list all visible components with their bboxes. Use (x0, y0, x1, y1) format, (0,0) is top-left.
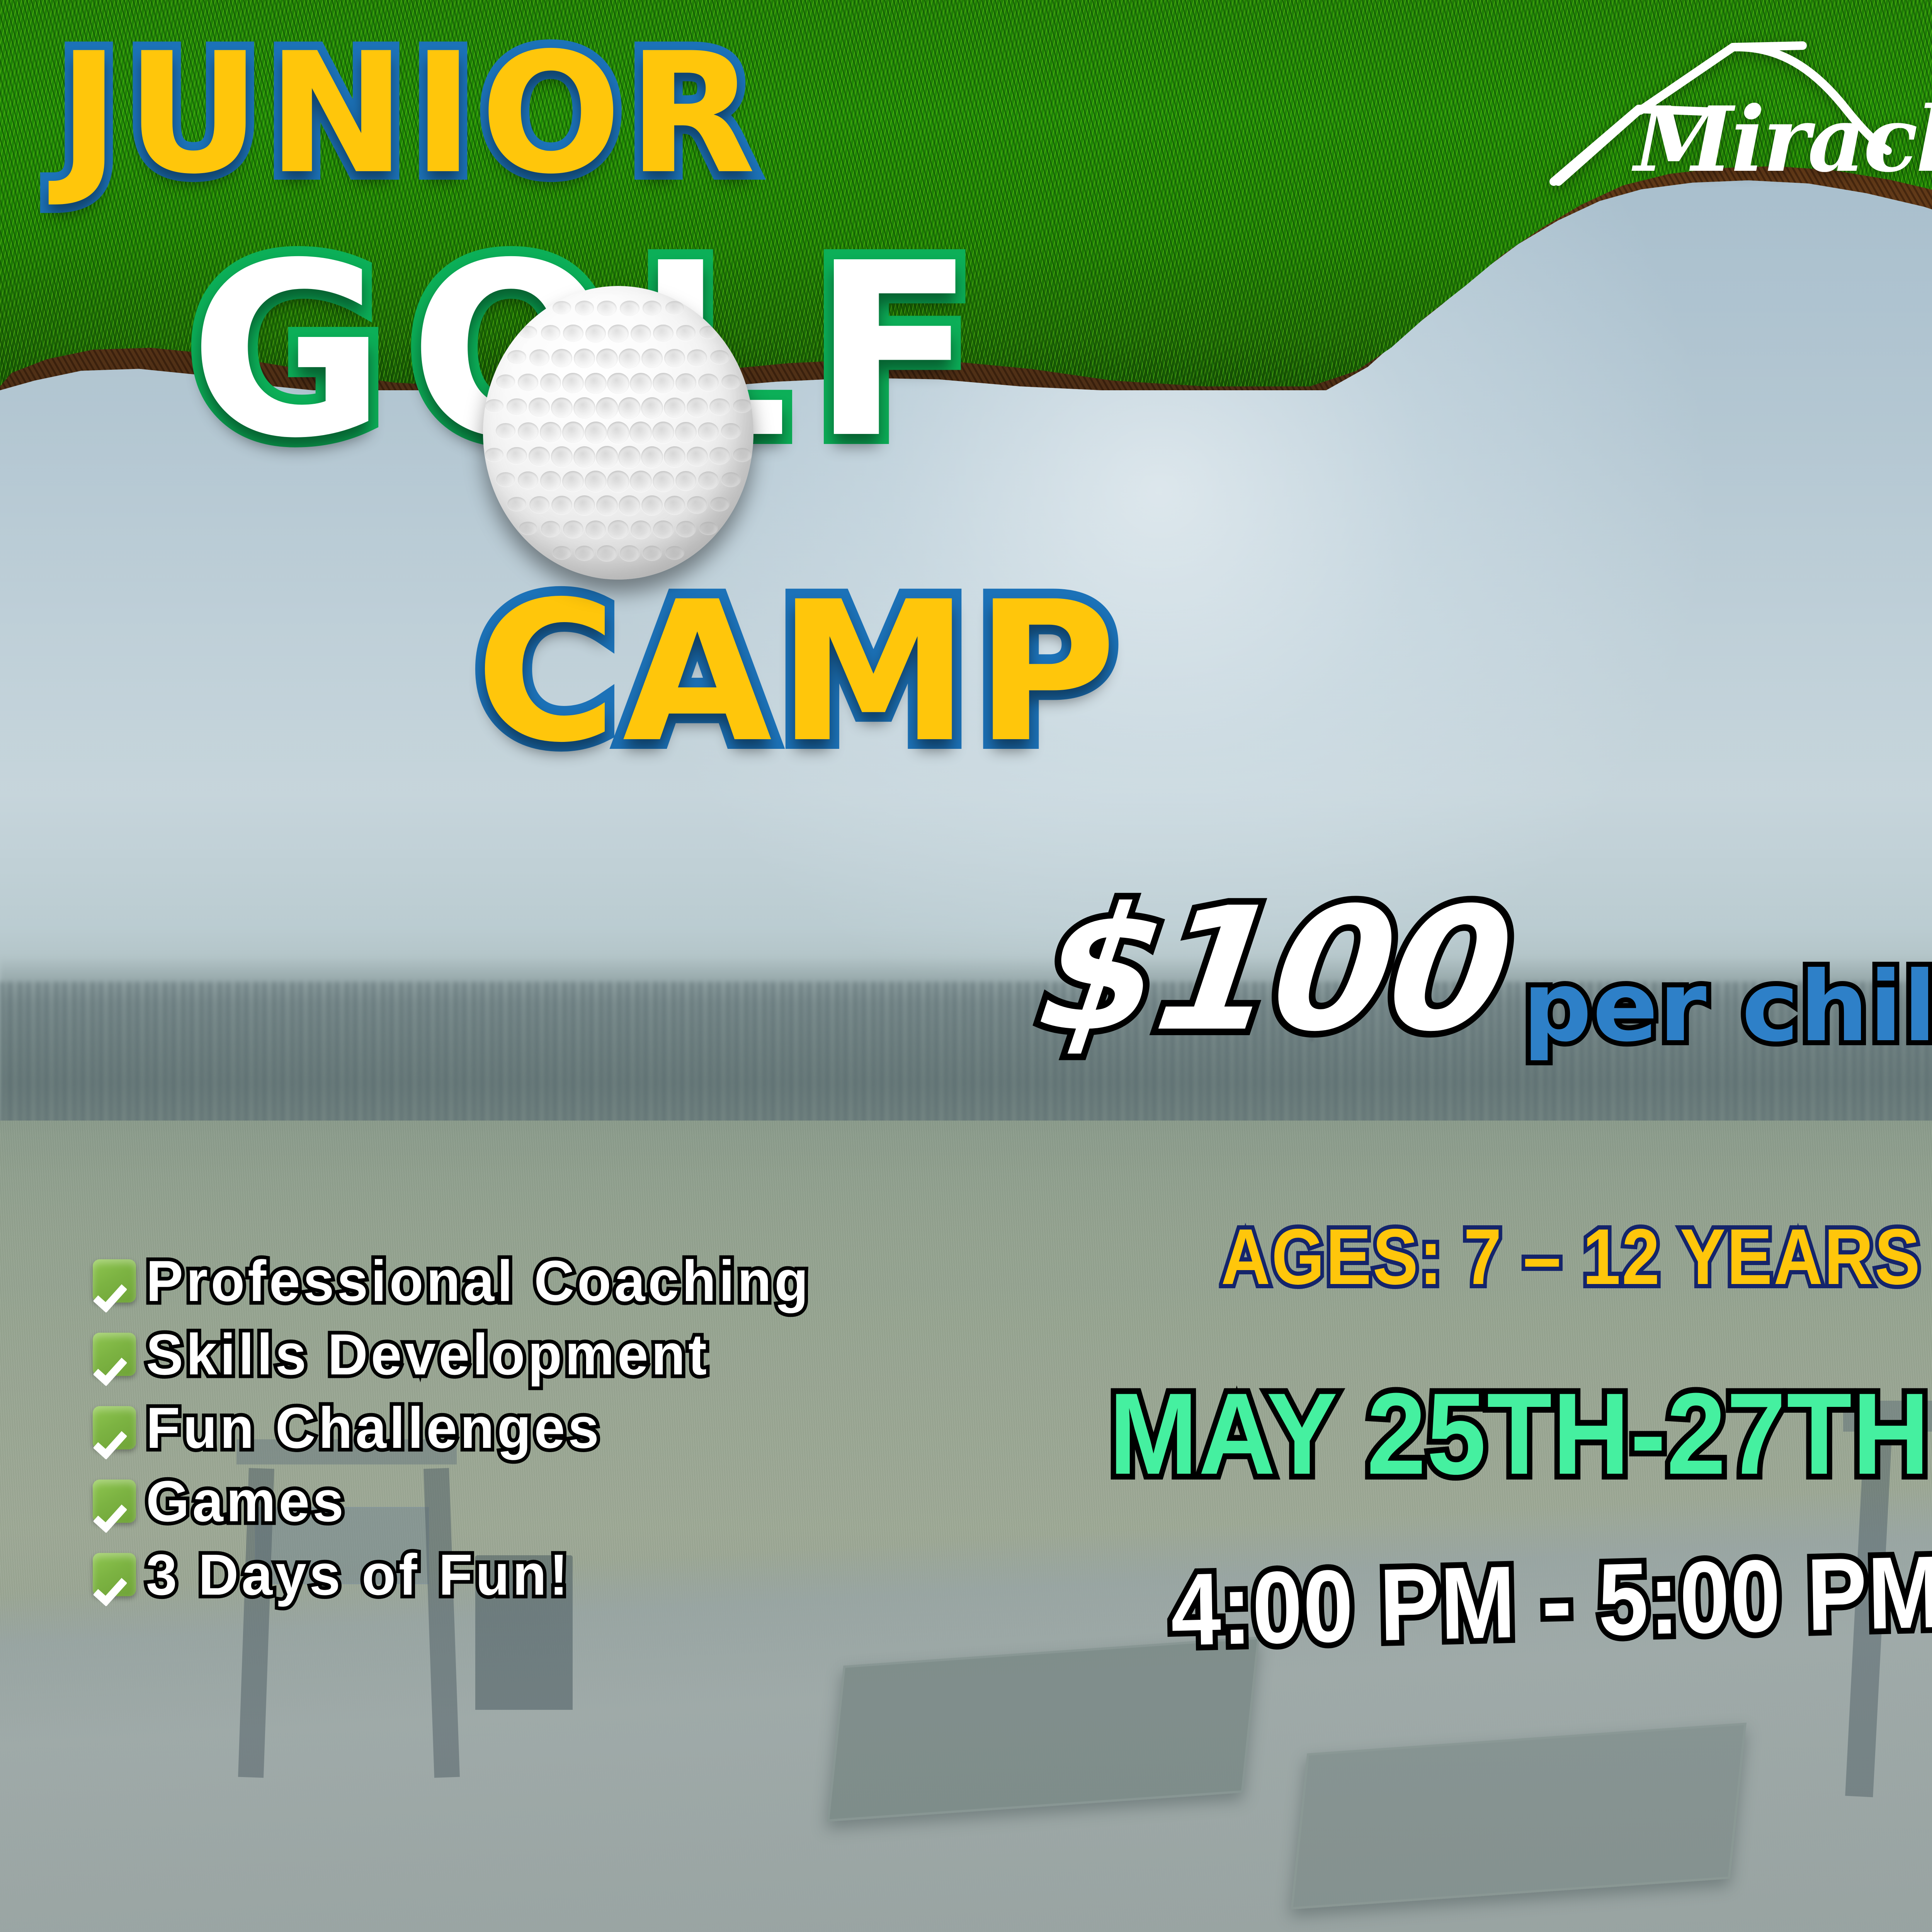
event-times: 4:00 PM - 5:00 PM (1170, 1541, 1932, 1662)
event-dates: MAY 25TH-27TH (1109, 1376, 1930, 1492)
golf-ball-icon (483, 286, 753, 580)
check-mark-icon (93, 1480, 136, 1523)
feature-checklist: Professional CoachingSkills DevelopmentF… (93, 1252, 839, 1604)
age-range-text: AGES: 7 – 12 YEARS OLD (1221, 1217, 1932, 1296)
price-row: $100per child (1043, 885, 1932, 1055)
feature-item: Professional Coaching (93, 1252, 839, 1310)
feature-label: Professional Coaching (146, 1252, 811, 1310)
feature-label: Fun Challenges (146, 1399, 602, 1457)
feature-item: Games (93, 1472, 839, 1530)
check-mark-icon (93, 1406, 136, 1449)
feature-label: 3 Days of Fun! (146, 1546, 571, 1604)
feature-label: Games (146, 1472, 347, 1530)
headline-word-junior: JUNIOR (58, 31, 762, 197)
headline-block: JUNIOR GOLF CAMP (0, 0, 1932, 889)
golf-ball-dimples (483, 286, 753, 580)
check-mark-icon (93, 1333, 136, 1376)
feature-item: Skills Development (93, 1325, 839, 1383)
feature-label: Skills Development (146, 1325, 710, 1383)
price-unit: per child (1523, 959, 1932, 1055)
price-amount: $100 (1031, 885, 1519, 1055)
feature-item: Fun Challenges (93, 1399, 839, 1457)
junior-golf-camp-flyer: Miracle Hill JUNIOR GOLF CAMP $100per ch… (0, 0, 1932, 1932)
feature-item: 3 Days of Fun! (93, 1546, 839, 1604)
headline-word-camp: CAMP (475, 576, 1122, 769)
check-mark-icon (93, 1259, 136, 1303)
check-mark-icon (93, 1553, 136, 1596)
